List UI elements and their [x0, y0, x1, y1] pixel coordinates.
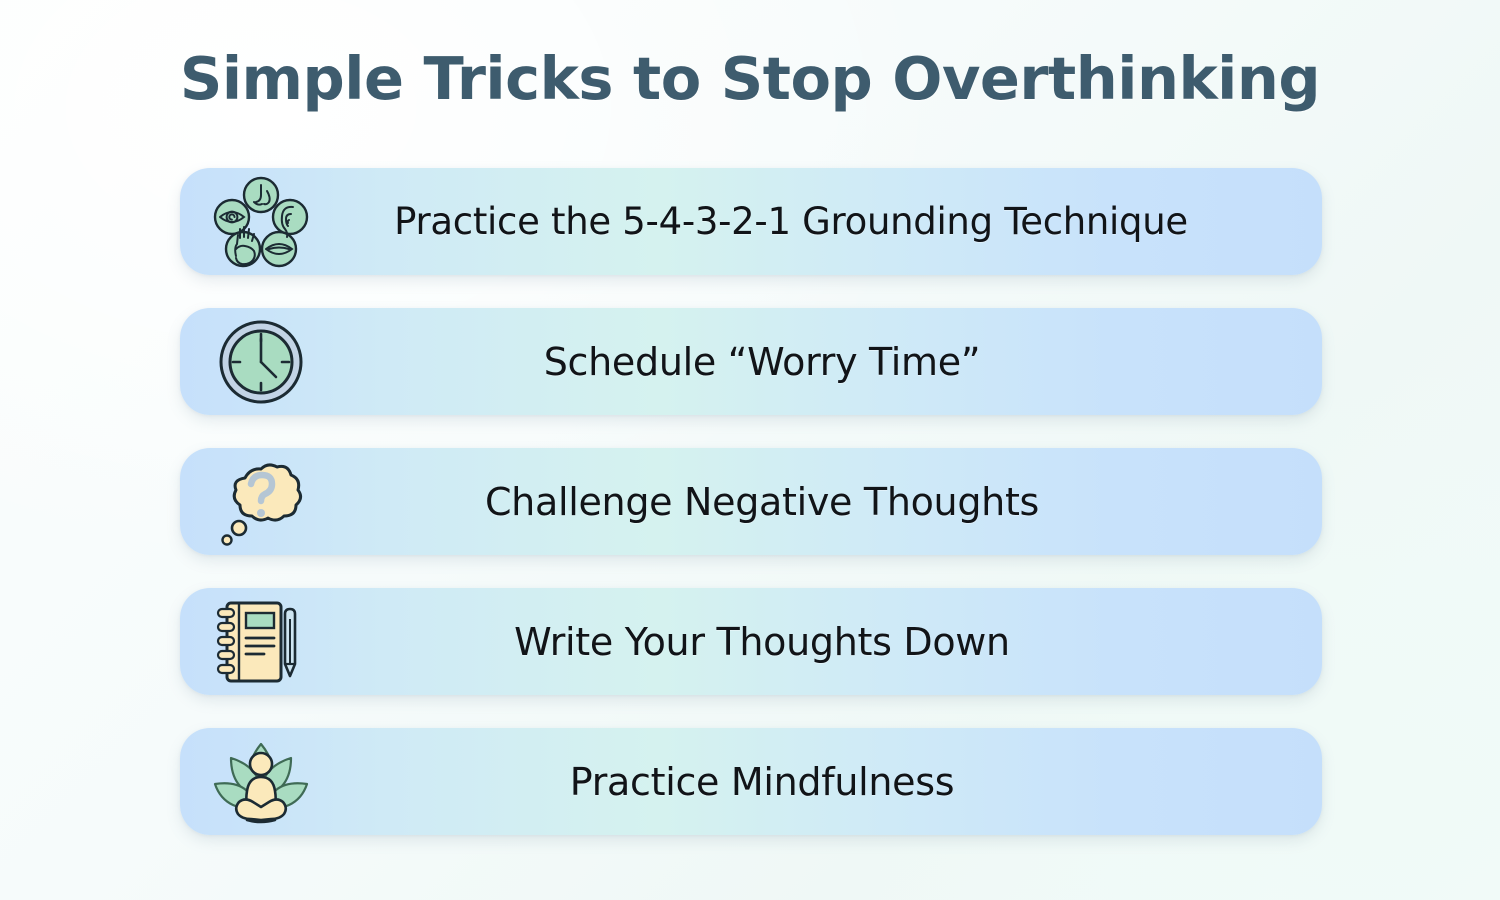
meditation-lotus-icon — [202, 736, 320, 828]
tip-label-5: Practice Mindfulness — [320, 760, 1322, 804]
tip-label-2: Schedule “Worry Time” — [320, 340, 1322, 384]
clock-icon — [202, 319, 320, 405]
tip-row-1[interactable]: Practice the 5-4-3-2-1 Grounding Techniq… — [180, 168, 1322, 275]
page-title: Simple Tricks to Stop Overthinking — [180, 44, 1320, 113]
tips-list: Practice the 5-4-3-2-1 Grounding Techniq… — [180, 168, 1322, 868]
notebook-pen-icon — [202, 597, 320, 687]
thought-bubble-question-icon — [202, 456, 320, 548]
infographic-poster: Simple Tricks to Stop Overthinking — [0, 0, 1500, 900]
tip-row-4[interactable]: Write Your Thoughts Down — [180, 588, 1322, 695]
tip-row-2[interactable]: Schedule “Worry Time” — [180, 308, 1322, 415]
tip-row-5[interactable]: Practice Mindfulness — [180, 728, 1322, 835]
five-senses-icon — [202, 176, 320, 268]
tip-label-1: Practice the 5-4-3-2-1 Grounding Techniq… — [320, 200, 1322, 243]
tip-label-4: Write Your Thoughts Down — [320, 620, 1322, 664]
tip-row-3[interactable]: Challenge Negative Thoughts — [180, 448, 1322, 555]
tip-label-3: Challenge Negative Thoughts — [320, 480, 1322, 524]
page-title-container: Simple Tricks to Stop Overthinking — [0, 44, 1500, 113]
